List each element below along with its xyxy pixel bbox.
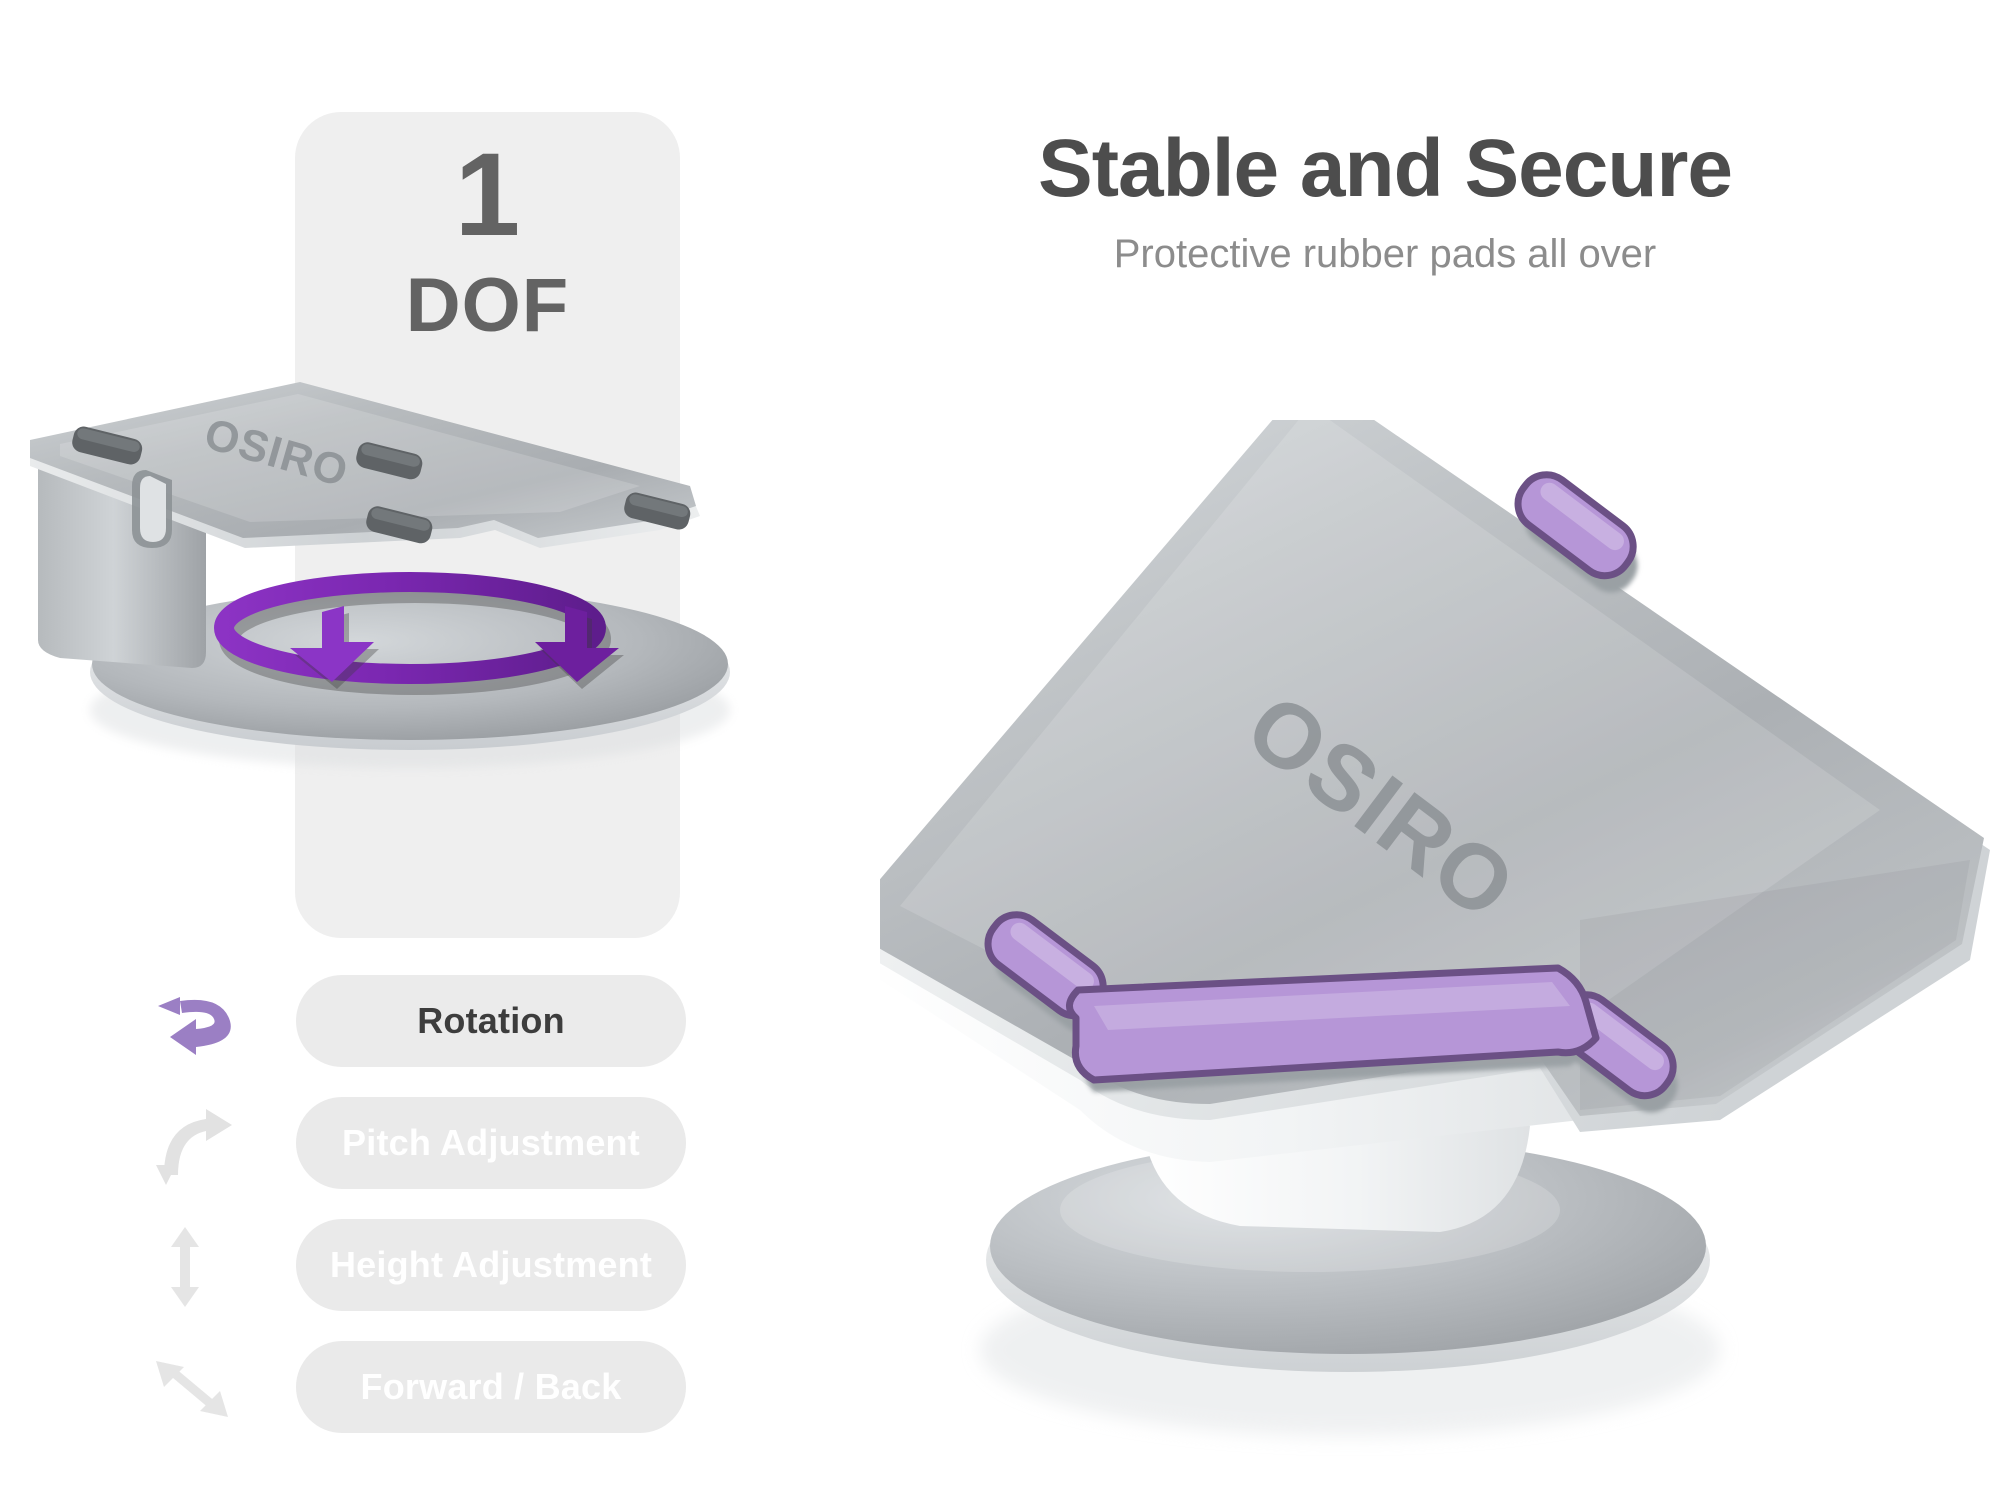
headline-block: Stable and Secure Protective rubber pads… (965, 128, 1805, 277)
feature-row-rotation: Rotation (150, 975, 710, 1071)
feature-row-forward-back: Forward / Back (150, 1341, 710, 1437)
curved-pitch-arrow-icon (150, 1103, 246, 1187)
left-product-image: OSIRO (0, 380, 900, 920)
pill-rotation[interactable]: Rotation (296, 975, 686, 1067)
right-product-image: OSIRO (880, 420, 2000, 1500)
pill-forward-back-label: Forward / Back (361, 1366, 622, 1408)
pill-forward-back[interactable]: Forward / Back (296, 1341, 686, 1433)
pill-pitch-adjustment[interactable]: Pitch Adjustment (296, 1097, 686, 1189)
product-feature-graphic: 1 DOF Stable and Secure Protective rubbe… (0, 0, 2000, 1500)
diagonal-double-arrow-icon (150, 1347, 246, 1431)
dof-number: 1 (295, 134, 680, 258)
rotation-arrow-icon (150, 981, 246, 1065)
pill-height-adjustment[interactable]: Height Adjustment (296, 1219, 686, 1311)
degrees-of-freedom-list: Rotation Pitch Adjustment (150, 975, 710, 1463)
page-title: Stable and Secure (965, 128, 1805, 210)
page-subtitle: Protective rubber pads all over (965, 232, 1805, 277)
left-cable-slot (132, 470, 172, 548)
pill-rotation-label: Rotation (417, 1000, 565, 1042)
pill-height-adjustment-label: Height Adjustment (330, 1244, 652, 1286)
feature-row-pitch: Pitch Adjustment (150, 1097, 710, 1193)
pill-pitch-adjustment-label: Pitch Adjustment (342, 1122, 640, 1164)
feature-row-height: Height Adjustment (150, 1219, 710, 1315)
vertical-double-arrow-icon (150, 1225, 246, 1309)
dof-label: DOF (295, 262, 680, 349)
